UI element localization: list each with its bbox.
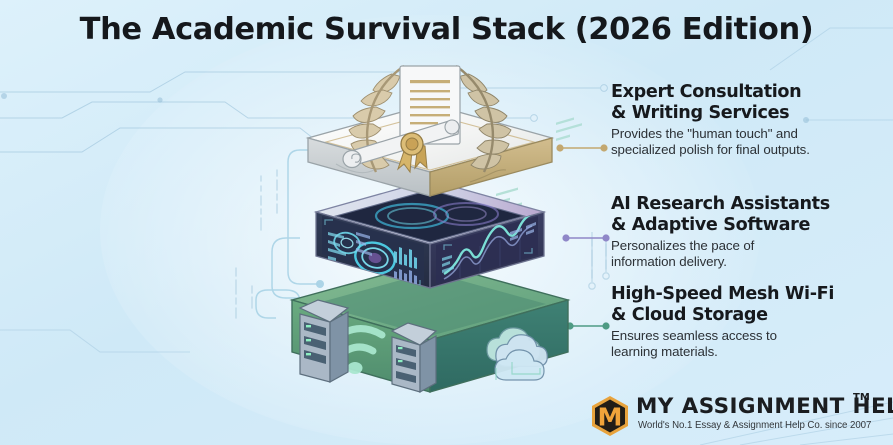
- feature-heading-line2: & Adaptive Software: [611, 215, 810, 235]
- feature-body-line1: Ensures seamless access to: [611, 328, 777, 343]
- wifi-dot-icon: [348, 362, 363, 374]
- hexagon-m-logo-icon: M: [588, 394, 632, 438]
- feature-body-line2: specialized polish for final outputs.: [611, 142, 810, 157]
- feature-body-line1: Personalizes the pace of: [611, 238, 754, 253]
- server-rack-icon: [392, 323, 436, 392]
- page-title: The Academic Survival Stack (2026 Editio…: [0, 12, 893, 47]
- feature-body-line1: Provides the "human touch" and: [611, 126, 798, 141]
- feature-heading-line2: & Cloud Storage: [611, 305, 768, 325]
- trademark-symbol: TM: [853, 392, 870, 403]
- feature-block-mesh-wifi-cloud: High-Speed Mesh Wi-Fi & Cloud Storage En…: [611, 284, 893, 360]
- feature-heading-line1: High-Speed Mesh Wi-Fi: [611, 284, 834, 304]
- logo-tagline: World's No.1 Essay & Assignment Help Co.…: [638, 420, 871, 431]
- feature-body-line2: information delivery.: [611, 254, 727, 269]
- feature-heading-line1: AI Research Assistants: [611, 194, 830, 214]
- feature-heading-line2: & Writing Services: [611, 103, 789, 123]
- infographic-canvas: The Academic Survival Stack (2026 Editio…: [0, 0, 893, 445]
- svg-text:M: M: [598, 403, 623, 432]
- brand-logo[interactable]: M MY ASSIGNMENT HELP TM World's No.1 Ess…: [588, 392, 888, 442]
- feature-heading-line1: Expert Consultation: [611, 82, 801, 102]
- feature-block-expert-consultation: Expert Consultation & Writing Services P…: [611, 82, 893, 158]
- feature-block-ai-research: AI Research Assistants & Adaptive Softwa…: [611, 194, 893, 270]
- feature-body-line2: learning materials.: [611, 344, 718, 359]
